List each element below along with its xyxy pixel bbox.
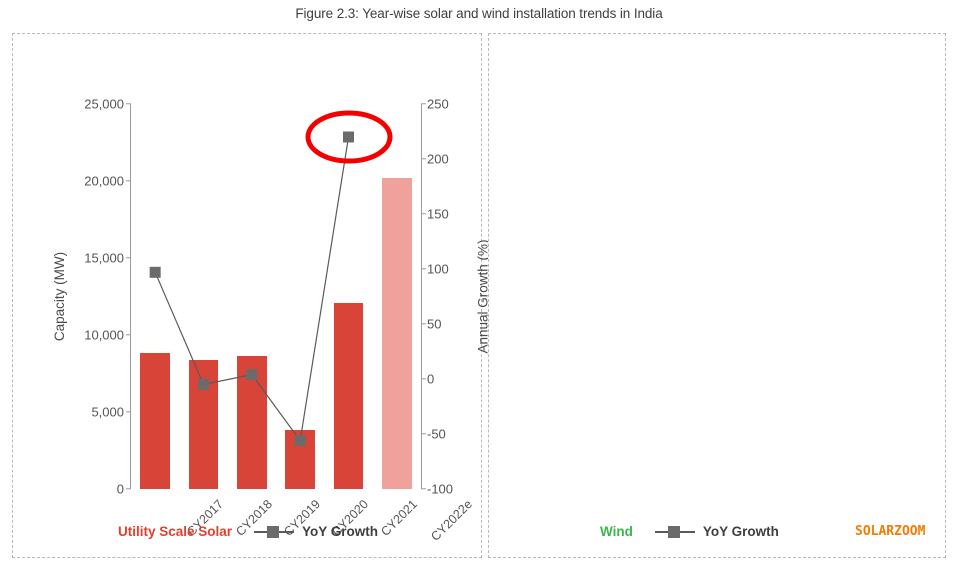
yoy-growth-line xyxy=(155,137,348,441)
line-marker-icon xyxy=(655,531,695,533)
wind-chart-panel: 0100020003000400050006000-60-50-40-30-20… xyxy=(488,33,946,558)
solar-y2-tick-mark xyxy=(421,378,426,379)
solar-y2-tick-mark xyxy=(421,103,426,104)
yoy-growth-marker[interactable] xyxy=(343,132,354,143)
yoy-growth-marker[interactable] xyxy=(295,435,306,446)
solar-y2-tick-mark xyxy=(421,158,426,159)
yoy-growth-marker[interactable] xyxy=(150,267,161,278)
legend-label-yoy-growth: YoY Growth xyxy=(703,524,779,539)
legend-item-wind: Wind xyxy=(600,524,633,539)
solar-y-axis-title: Capacity (MW) xyxy=(52,252,67,341)
legend-item-solar-yoy: YoY Growth xyxy=(254,524,378,539)
solar-y-tick-label: 25,000 xyxy=(84,98,124,111)
solar-yoy-growth-series xyxy=(131,104,421,489)
yoy-growth-marker[interactable] xyxy=(246,369,257,380)
legend-label-yoy-growth: YoY Growth xyxy=(302,524,378,539)
solar-chart-panel: 05,00010,00015,00020,00025,000-100-50050… xyxy=(12,33,482,558)
solar-y-tick-label: 5,000 xyxy=(91,406,124,419)
solar-y-tick-label: 15,000 xyxy=(84,252,124,265)
legend-item-wind-yoy: YoY Growth xyxy=(655,524,779,539)
solar-y2-tick-mark xyxy=(421,268,426,269)
solar-y2-tick-mark xyxy=(421,213,426,214)
solar-y2-tick-label: 50 xyxy=(427,318,441,331)
solar-plot-area: 05,00010,00015,00020,00025,000-100-50050… xyxy=(131,104,421,489)
wind-legend: Wind YoY Growth xyxy=(600,524,779,539)
line-marker-icon xyxy=(254,531,294,533)
figure-title: Figure 2.3: Year-wise solar and wind ins… xyxy=(0,6,958,21)
x-tick-label-CY2021: CY2021 xyxy=(378,497,420,539)
solar-y2-tick-mark xyxy=(421,488,426,489)
legend-item-solar: Utility Scale Solar xyxy=(118,524,232,539)
x-tick-label-CY2022e: CY2022e xyxy=(428,497,475,544)
yoy-growth-marker[interactable] xyxy=(198,379,209,390)
solarzoom-watermark: SOLARZOOM xyxy=(855,524,925,539)
solar-y-tick-label: 0 xyxy=(117,483,124,496)
solar-y2-tick-mark xyxy=(421,323,426,324)
solar-y2-tick-label: 100 xyxy=(427,263,449,276)
solar-y-tick-label: 10,000 xyxy=(84,329,124,342)
solar-y2-tick-label: 200 xyxy=(427,153,449,166)
solar-y2-tick-label: -100 xyxy=(427,483,453,496)
solar-y2-tick-label: -50 xyxy=(427,428,446,441)
solar-y2-tick-label: 150 xyxy=(427,208,449,221)
solar-y-tick-label: 20,000 xyxy=(84,175,124,188)
solar-legend: Utility Scale Solar YoY Growth xyxy=(118,524,378,539)
solar-y2-tick-label: 250 xyxy=(427,98,449,111)
solar-y2-tick-mark xyxy=(421,433,426,434)
solar-y2-tick-label: 0 xyxy=(427,373,434,386)
